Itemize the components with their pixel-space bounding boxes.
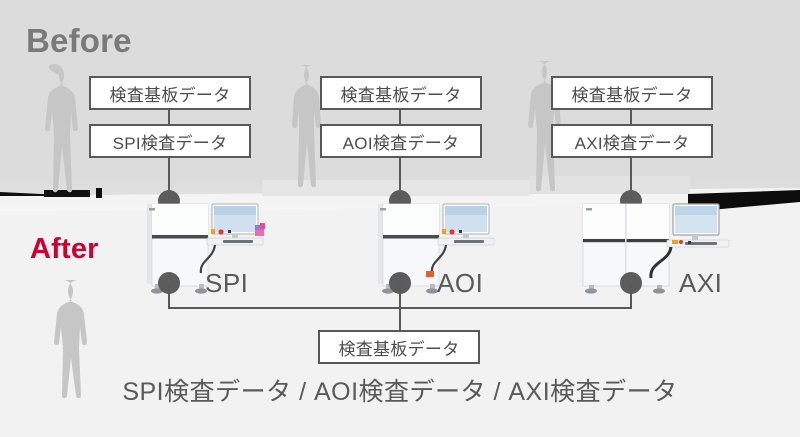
after-shared-board-data-box: 検査基板データ — [318, 330, 480, 364]
before-heading: Before — [26, 22, 132, 60]
person-silhouette-before-1 — [26, 60, 82, 195]
before-aoi-connector-1 — [399, 110, 401, 124]
before-aoi-inspection-data-box: AOI検査データ — [320, 124, 482, 158]
infographic-canvas: Before After 検査基板データ SPI検査データ 検査基板データ AO… — [0, 0, 800, 437]
floor-shadow-strip-c — [96, 188, 102, 198]
before-aoi-board-data-box: 検査基板データ — [320, 76, 482, 110]
before-spi-inspection-data-box: SPI検査データ — [89, 124, 251, 158]
after-heading: After — [30, 233, 99, 266]
after-spi-drop-line — [168, 283, 170, 309]
machine-label-spi: SPI — [205, 268, 248, 299]
person-silhouette-before-2 — [274, 62, 326, 192]
before-spi-board-data-box: 検査基板データ — [89, 76, 251, 110]
after-aoi-drop-line — [399, 283, 401, 331]
after-axi-drop-line — [630, 283, 632, 309]
machine-label-aoi: AOI — [437, 268, 483, 299]
before-axi-inspection-data-box: AXI検査データ — [551, 124, 713, 158]
machine-label-axi: AXI — [679, 268, 722, 299]
before-axi-board-data-box: 検査基板データ — [551, 76, 713, 110]
before-spi-connector-1 — [168, 110, 170, 124]
before-axi-connector-1 — [630, 110, 632, 124]
after-summary-text: SPI検査データ / AOI検査データ / AXI検査データ — [0, 372, 800, 408]
